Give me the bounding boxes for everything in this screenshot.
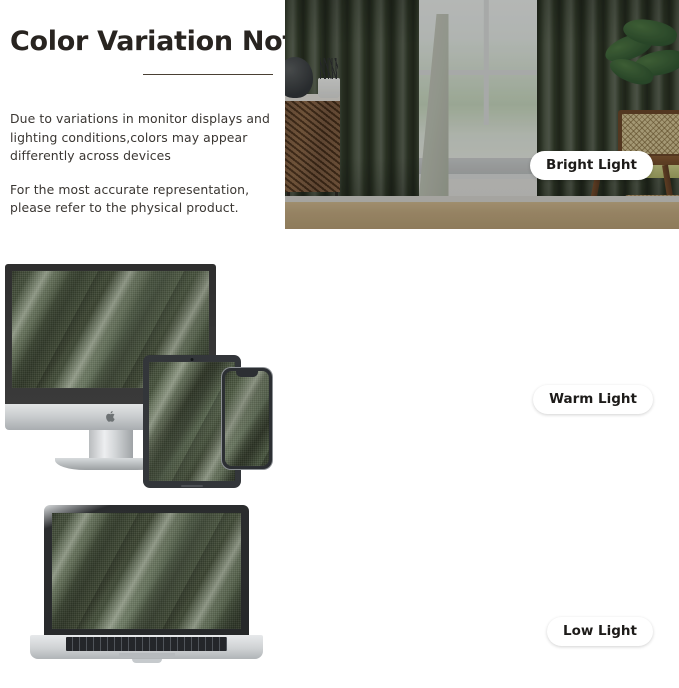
label-badge-low-light: Low Light: [547, 617, 653, 646]
laptop-mockup: [30, 505, 263, 668]
phone-notch: [236, 371, 258, 377]
decor-vase: [285, 57, 313, 98]
room-photo-low-light: [285, 0, 679, 229]
fiddle-leaf-plant: [600, 18, 679, 114]
label-badge-warm-light: Warm Light: [533, 385, 653, 414]
tablet-camera-icon: [191, 358, 194, 361]
window-mullion-vertical: [483, 0, 488, 125]
color-variation-notice-page: Color Variation Notice Due to variations…: [0, 0, 679, 688]
apple-logo-icon: [105, 410, 116, 423]
phone-screen-fabric-swatch: [225, 371, 269, 466]
device-mockup-group: [0, 0, 285, 438]
wood-cabinet: [285, 94, 340, 202]
lighting-samples-panel: Bright Light Warm Light Low Light: [285, 0, 679, 688]
curtain-shadow-top: [285, 0, 419, 45]
laptop-lid: [44, 505, 249, 635]
tablet-home-indicator: [181, 485, 203, 487]
laptop-screen-fabric-swatch: [52, 513, 241, 629]
notice-panel: Color Variation Notice Due to variations…: [0, 0, 285, 688]
wood-floor: [285, 202, 679, 229]
smartphone-mockup: [222, 368, 272, 469]
laptop-keyboard: [66, 637, 227, 651]
cabinet-front: [285, 101, 340, 191]
label-badge-bright-light: Bright Light: [530, 151, 653, 180]
laptop-trackpad: [119, 653, 175, 658]
laptop-lid-notch: [132, 659, 162, 663]
decor-pen-cup: [318, 78, 340, 99]
